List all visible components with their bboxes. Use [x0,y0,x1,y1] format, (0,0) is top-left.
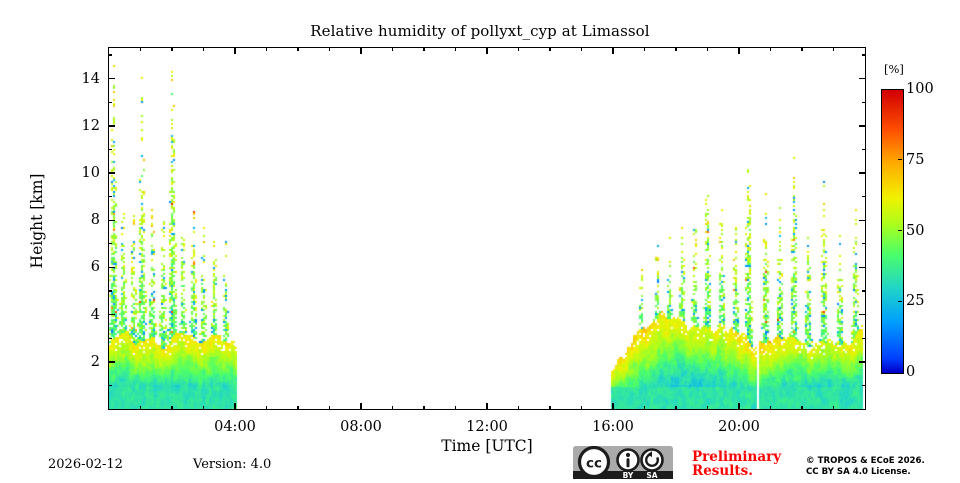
preliminary-line-2: Results. [692,464,781,478]
x-axis-major-tick [360,403,361,410]
x-axis-minor-tick [203,406,204,410]
humidity-heatmap-canvas [109,48,865,409]
x-axis-minor-tick-top [203,47,204,51]
y-axis-major-tick [108,314,115,315]
x-axis-minor-tick-top [675,47,676,51]
colorbar-tick-label: 50 [906,223,924,239]
y-axis-minor-tick [108,243,112,244]
x-axis-tick-label: 12:00 [466,419,508,435]
y-axis-major-tick [108,172,115,173]
x-axis-minor-tick [455,406,456,410]
y-axis-major-tick-right [859,361,866,362]
y-axis-major-tick [108,220,115,221]
x-axis-minor-tick [801,406,802,410]
x-axis-minor-tick [707,406,708,410]
colorbar-tick-label: 0 [906,364,915,380]
y-axis-tick-label: 2 [56,354,100,370]
y-axis-tick-label: 4 [56,307,100,323]
x-axis-minor-tick-top [266,47,267,51]
x-axis-minor-tick [770,406,771,410]
x-axis-minor-tick-top [644,47,645,51]
x-axis-minor-tick [266,406,267,410]
x-axis-minor-tick-top [549,47,550,51]
y-axis-major-tick-right [859,220,866,221]
x-axis-minor-tick [392,406,393,410]
colorbar-unit-label: [%] [884,62,904,76]
x-axis-minor-tick [297,406,298,410]
cc-by-text: BY [623,471,634,479]
y-axis-tick-label: 10 [56,165,100,181]
y-axis-tick-label: 14 [56,71,100,87]
colorbar-tick [898,301,902,302]
y-axis-major-tick-right [859,314,866,315]
y-axis-tick-label: 6 [56,259,100,275]
copyright-line-2: CC BY SA 4.0 License. [806,467,925,478]
x-axis-minor-tick-top [801,47,802,51]
x-axis-minor-tick [549,406,550,410]
x-axis-minor-tick [581,406,582,410]
x-axis-major-tick [738,403,739,410]
footer-date: 2026-02-12 [48,457,123,472]
x-axis-minor-tick [833,406,834,410]
svg-text:cc: cc [586,456,602,472]
colorbar-gradient [881,89,904,374]
y-axis-major-tick [108,78,115,79]
x-axis-minor-tick-top [455,47,456,51]
x-axis-minor-tick-top [171,47,172,51]
x-axis-tick-label: 16:00 [592,419,634,435]
cc-badge-icon: cc BY SA [573,446,673,479]
y-axis-minor-tick-right [862,196,866,197]
y-axis-major-tick-right [859,172,866,173]
x-axis-minor-tick-top [392,47,393,51]
x-axis-minor-tick-top [518,47,519,51]
y-axis-major-tick-right [859,125,866,126]
y-axis-major-tick [108,267,115,268]
x-axis-minor-tick [171,406,172,410]
x-axis-minor-tick [329,406,330,410]
x-axis-major-tick-top [234,47,235,54]
colorbar-tick-label: 75 [906,152,924,168]
y-axis-major-tick [108,125,115,126]
x-axis-major-tick [234,403,235,410]
x-axis-minor-tick [423,406,424,410]
x-axis-minor-tick-top [297,47,298,51]
x-axis-minor-tick-top [707,47,708,51]
x-axis-minor-tick-top [833,47,834,51]
y-axis-major-tick-right [859,78,866,79]
copyright-note: © TROPOS & ECoE 2026. CC BY SA 4.0 Licen… [806,456,925,477]
y-axis-minor-tick-right [862,385,866,386]
plot-area [108,47,866,410]
x-axis-minor-tick-top [581,47,582,51]
x-axis-minor-tick-top [329,47,330,51]
x-axis-minor-tick [644,406,645,410]
y-axis-minor-tick [108,54,112,55]
x-axis-minor-tick [675,406,676,410]
cc-license-badge[interactable]: cc BY SA [573,446,673,479]
y-axis-minor-tick [108,102,112,103]
colorbar-tick-label: 25 [906,293,924,309]
x-axis-tick-label: 08:00 [340,419,382,435]
y-axis-minor-tick [108,385,112,386]
x-axis-minor-tick-top [770,47,771,51]
copyright-line-1: © TROPOS & ECoE 2026. [806,456,925,467]
cc-sa-text: SA [646,471,657,479]
x-axis-tick-label: 04:00 [214,419,256,435]
y-axis-minor-tick-right [862,290,866,291]
x-axis-tick-label: 20:00 [718,419,760,435]
x-axis-major-tick [612,403,613,410]
x-axis-major-tick-top [612,47,613,54]
x-axis-minor-tick [140,406,141,410]
page-title: Relative humidity of pollyxt_cyp at Lima… [0,22,960,40]
preliminary-line-1: Preliminary [692,450,781,464]
y-axis-minor-tick [108,338,112,339]
colorbar-tick [898,230,902,231]
y-axis-minor-tick-right [862,338,866,339]
y-axis-minor-tick [108,149,112,150]
y-axis-minor-tick [108,196,112,197]
x-axis-minor-tick-top [423,47,424,51]
x-axis-minor-tick-top [140,47,141,51]
y-axis-major-tick [108,361,115,362]
colorbar-tick [898,159,902,160]
x-axis-major-tick-top [360,47,361,54]
preliminary-results-note: Preliminary Results. [692,450,781,478]
y-axis-minor-tick-right [862,102,866,103]
y-axis-tick-label: 12 [56,118,100,134]
y-axis-tick-label: 8 [56,212,100,228]
x-axis-major-tick-top [738,47,739,54]
x-axis-major-tick-top [486,47,487,54]
colorbar-tick-label: 100 [906,81,934,97]
y-axis-minor-tick-right [862,243,866,244]
x-axis-minor-tick [518,406,519,410]
footer-version: Version: 4.0 [193,457,271,472]
y-axis-label: Height [km] [28,141,46,301]
y-axis-minor-tick-right [862,54,866,55]
x-axis-major-tick [486,403,487,410]
y-axis-minor-tick-right [862,149,866,150]
y-axis-major-tick-right [859,267,866,268]
y-axis-minor-tick [108,290,112,291]
